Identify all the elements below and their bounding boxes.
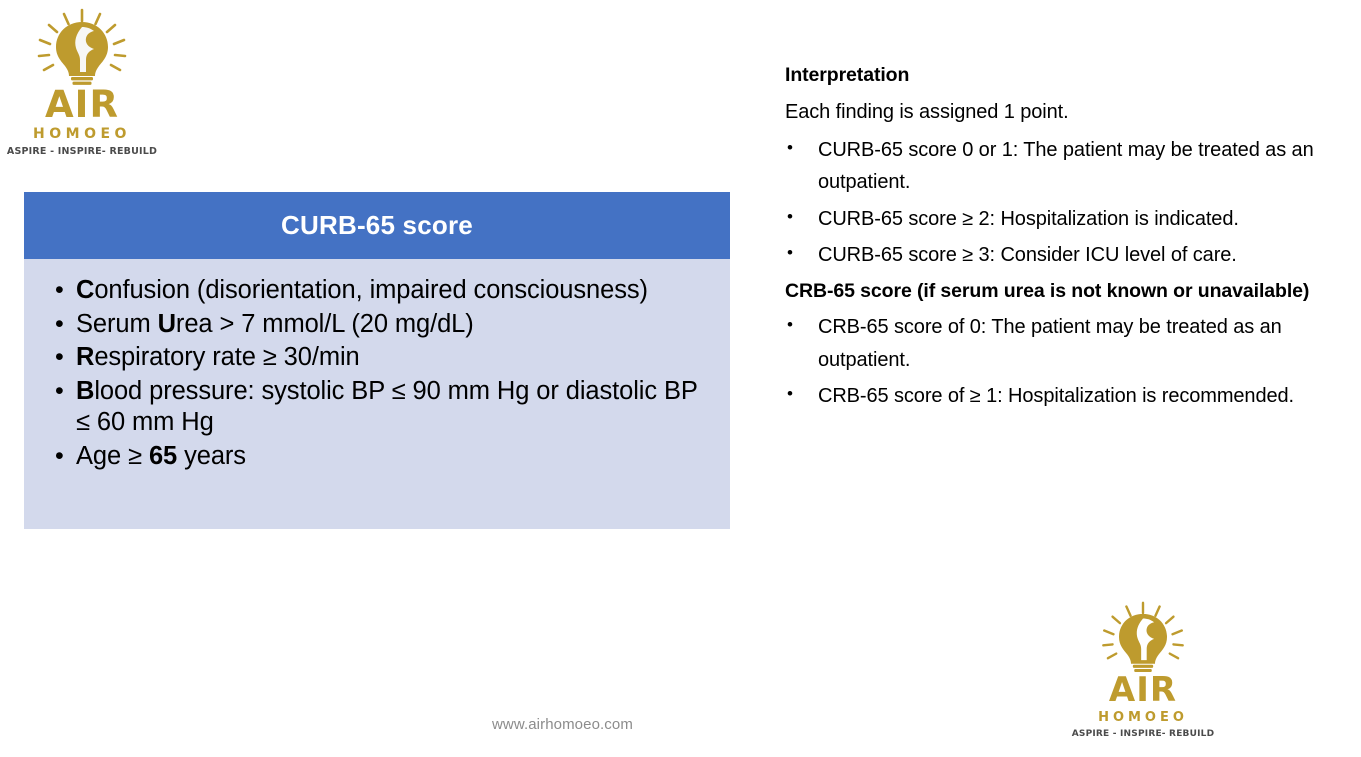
lightbulb-idea-icon	[1095, 601, 1191, 673]
list-item: Serum Urea > 7 mmol/L (20 mg/dL)	[36, 309, 718, 341]
brand-subword: HOMOEO	[1098, 711, 1188, 724]
item-rest: rea > 7 mmol/L (20 mg/dL)	[176, 310, 474, 338]
item-lead: R	[76, 343, 94, 371]
brand-wordmark: AIR	[45, 86, 119, 123]
item-rest: lood pressure: systolic BP ≤ 90 mm Hg or…	[76, 377, 697, 437]
interpretation-intro: Each finding is assigned 1 point.	[785, 96, 1333, 128]
list-item: Age ≥ 65 years	[36, 441, 718, 473]
interpretation-column: Interpretation Each finding is assigned …	[785, 60, 1333, 416]
curb65-interpretation-list: CURB-65 score 0 or 1: The patient may be…	[785, 134, 1333, 272]
footer-website-url: www.airhomoeo.com	[492, 716, 633, 733]
brand-tagline: ASPIRE - INSPIRE- REBUILD	[1072, 730, 1215, 739]
crb65-heading: CRB-65 score (if serum urea is not known…	[785, 276, 1333, 308]
item-lead: U	[158, 310, 176, 338]
list-item: Blood pressure: systolic BP ≤ 90 mm Hg o…	[36, 376, 718, 439]
list-item: CRB-65 score of ≥ 1: Hospitalization is …	[785, 380, 1333, 412]
list-item: CURB-65 score ≥ 3: Consider ICU level of…	[785, 239, 1333, 271]
list-item: Respiratory rate ≥ 30/min	[36, 342, 718, 374]
item-rest: espiratory rate ≥ 30/min	[94, 343, 359, 371]
item-lead: B	[76, 377, 94, 405]
list-item: CRB-65 score of 0: The patient may be tr…	[785, 311, 1333, 376]
item-lead: 65	[149, 442, 177, 470]
list-item: Confusion (disorientation, impaired cons…	[36, 275, 718, 307]
brand-wordmark: AIR	[1109, 673, 1177, 707]
brand-subword: HOMOEO	[33, 127, 131, 141]
item-pre: Serum	[76, 310, 158, 338]
lightbulb-idea-icon	[30, 8, 134, 86]
list-item: CURB-65 score 0 or 1: The patient may be…	[785, 134, 1333, 199]
brand-logo-bottom: AIR HOMOEO ASPIRE - INSPIRE- REBUILD	[1089, 601, 1197, 739]
curb65-score-panel: CURB-65 score Confusion (disorientation,…	[24, 192, 730, 529]
item-lead: C	[76, 276, 94, 304]
curb65-criteria-list: Confusion (disorientation, impaired cons…	[36, 275, 718, 473]
panel-body: Confusion (disorientation, impaired cons…	[24, 259, 730, 529]
brand-tagline: ASPIRE - INSPIRE- REBUILD	[7, 147, 157, 157]
item-rest: onfusion (disorientation, impaired consc…	[94, 276, 648, 304]
panel-title: CURB-65 score	[281, 210, 473, 241]
panel-header: CURB-65 score	[24, 192, 730, 259]
interpretation-heading: Interpretation	[785, 60, 1333, 92]
item-rest: years	[177, 442, 246, 470]
item-pre: Age ≥	[76, 442, 149, 470]
brand-logo-top: AIR HOMOEO ASPIRE - INSPIRE- REBUILD	[24, 8, 140, 157]
crb65-interpretation-list: CRB-65 score of 0: The patient may be tr…	[785, 311, 1333, 412]
list-item: CURB-65 score ≥ 2: Hospitalization is in…	[785, 203, 1333, 235]
